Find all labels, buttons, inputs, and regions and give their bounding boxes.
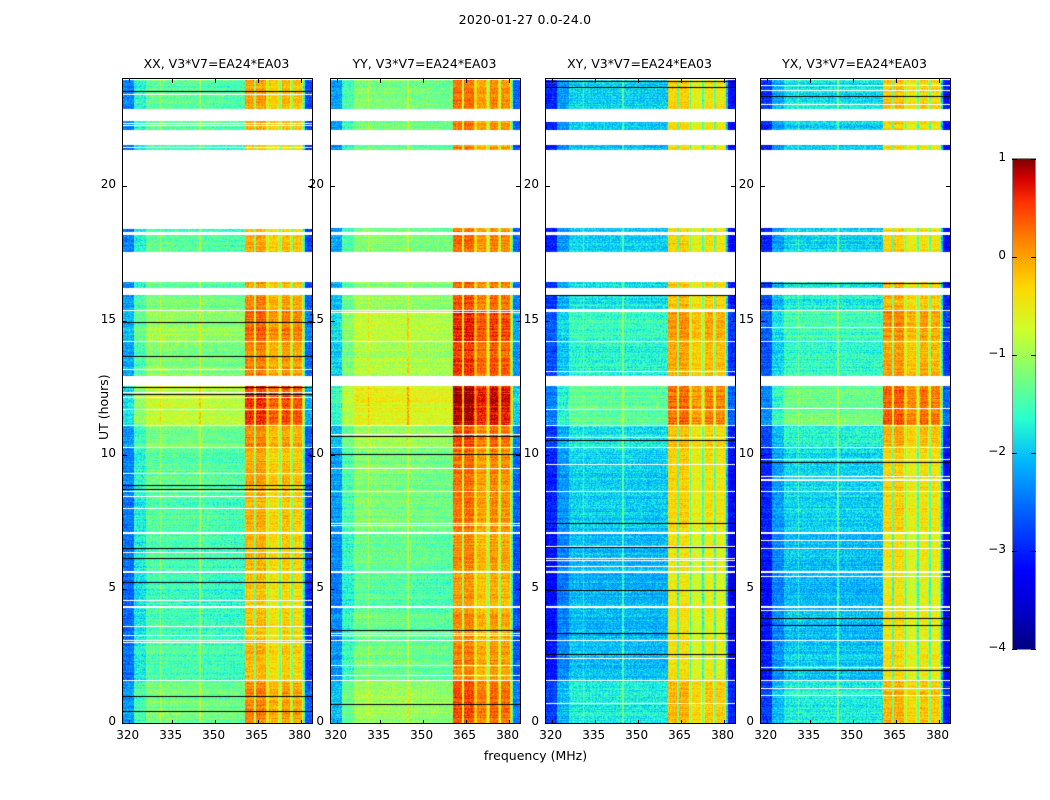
colorbar-tick-right — [1031, 159, 1036, 160]
x-tick-label: 335 — [789, 728, 829, 742]
colorbar[interactable] — [1012, 158, 1036, 650]
panel-title-xy: XY, V3*V7=EA24*EA03 — [515, 56, 764, 72]
x-tick-top — [258, 79, 259, 83]
colorbar-tick-right — [1031, 257, 1036, 258]
x-tick — [380, 720, 381, 724]
y-tick-label: 15 — [724, 312, 754, 326]
x-tick — [466, 720, 467, 724]
y-tick — [330, 186, 335, 187]
x-tick-top — [129, 79, 130, 83]
y-tick-right — [946, 321, 951, 322]
x-tick-label: 365 — [237, 728, 277, 742]
x-tick — [215, 720, 216, 724]
y-tick-label: 20 — [509, 177, 539, 191]
colorbar-tick-label: −3 — [972, 542, 1006, 556]
x-tick-label: 350 — [617, 728, 657, 742]
waterfall-panel-yx[interactable] — [760, 78, 951, 724]
x-tick-label: 380 — [488, 728, 528, 742]
x-tick-top — [939, 79, 940, 83]
y-tick — [760, 186, 765, 187]
x-tick — [638, 720, 639, 724]
x-tick-top — [896, 79, 897, 83]
x-tick-top — [215, 79, 216, 83]
colorbar-gradient — [1013, 159, 1035, 649]
y-tick — [122, 723, 127, 724]
x-tick — [595, 720, 596, 724]
x-tick-label: 320 — [108, 728, 148, 742]
y-tick — [545, 186, 550, 187]
x-tick-top — [595, 79, 596, 83]
colorbar-tick-right — [1031, 649, 1036, 650]
y-tick-label: 10 — [509, 446, 539, 460]
waterfall-image-yx — [761, 79, 950, 723]
x-tick — [337, 720, 338, 724]
y-tick — [122, 455, 127, 456]
y-tick-label: 15 — [294, 312, 324, 326]
figure-canvas: 2020-01-27 0.0-24.0 XX, V3*V7=EA24*EA033… — [0, 0, 1050, 800]
colorbar-tick — [1012, 551, 1017, 552]
x-tick-label: 365 — [445, 728, 485, 742]
y-tick — [330, 321, 335, 322]
colorbar-tick — [1012, 355, 1017, 356]
figure-suptitle: 2020-01-27 0.0-24.0 — [0, 12, 1050, 27]
y-tick-label: 10 — [724, 446, 754, 460]
y-tick — [545, 321, 550, 322]
x-tick-top — [301, 79, 302, 83]
y-tick-label: 0 — [294, 714, 324, 728]
waterfall-image-xx — [123, 79, 312, 723]
x-tick-label: 335 — [151, 728, 191, 742]
x-tick-label: 320 — [746, 728, 786, 742]
colorbar-tick — [1012, 649, 1017, 650]
y-tick — [545, 723, 550, 724]
x-tick-top — [853, 79, 854, 83]
x-tick-label: 380 — [918, 728, 958, 742]
y-tick — [122, 186, 127, 187]
x-tick — [681, 720, 682, 724]
x-tick — [258, 720, 259, 724]
y-tick — [545, 589, 550, 590]
x-tick — [172, 720, 173, 724]
x-tick — [552, 720, 553, 724]
y-tick — [122, 321, 127, 322]
x-tick — [853, 720, 854, 724]
y-tick-label: 0 — [86, 714, 116, 728]
y-tick — [122, 589, 127, 590]
y-tick-label: 5 — [294, 580, 324, 594]
x-tick-label: 335 — [574, 728, 614, 742]
y-axis-label: UT (hours) — [96, 374, 111, 440]
x-tick-top — [681, 79, 682, 83]
x-tick-top — [724, 79, 725, 83]
waterfall-panel-xy[interactable] — [545, 78, 736, 724]
colorbar-tick — [1012, 257, 1017, 258]
y-tick — [330, 455, 335, 456]
panel-title-yx: YX, V3*V7=EA24*EA03 — [730, 56, 979, 72]
x-tick-label: 365 — [660, 728, 700, 742]
panel-title-yy: YY, V3*V7=EA24*EA03 — [300, 56, 549, 72]
x-tick-top — [767, 79, 768, 83]
colorbar-tick-label: −4 — [972, 640, 1006, 654]
colorbar-tick-right — [1031, 551, 1036, 552]
colorbar-tick — [1012, 159, 1017, 160]
x-tick — [129, 720, 130, 724]
y-tick-label: 20 — [724, 177, 754, 191]
x-tick — [423, 720, 424, 724]
y-tick-label: 5 — [724, 580, 754, 594]
colorbar-tick-right — [1031, 453, 1036, 454]
waterfall-panel-yy[interactable] — [330, 78, 521, 724]
colorbar-tick — [1012, 453, 1017, 454]
y-tick-label: 20 — [294, 177, 324, 191]
x-tick-label: 380 — [280, 728, 320, 742]
y-tick-label: 20 — [86, 177, 116, 191]
colorbar-tick-label: 1 — [972, 150, 1006, 164]
x-tick-top — [466, 79, 467, 83]
y-tick-label: 10 — [86, 446, 116, 460]
y-tick — [760, 321, 765, 322]
x-tick-top — [638, 79, 639, 83]
x-tick — [939, 720, 940, 724]
waterfall-image-yy — [331, 79, 520, 723]
waterfall-image-xy — [546, 79, 735, 723]
x-tick-label: 320 — [316, 728, 356, 742]
y-tick-label: 5 — [509, 580, 539, 594]
y-tick-label: 15 — [86, 312, 116, 326]
x-tick-top — [552, 79, 553, 83]
colorbar-tick-label: −2 — [972, 444, 1006, 458]
y-tick-label: 15 — [509, 312, 539, 326]
x-tick — [896, 720, 897, 724]
colorbar-tick-label: 0 — [972, 248, 1006, 262]
y-tick-label: 0 — [724, 714, 754, 728]
y-tick — [330, 723, 335, 724]
y-tick — [760, 455, 765, 456]
x-tick-top — [423, 79, 424, 83]
y-tick-label: 10 — [294, 446, 324, 460]
waterfall-panel-xx[interactable] — [122, 78, 313, 724]
x-tick — [810, 720, 811, 724]
x-tick-label: 335 — [359, 728, 399, 742]
y-tick-right — [946, 589, 951, 590]
y-tick — [330, 589, 335, 590]
y-tick — [760, 723, 765, 724]
x-axis-label: frequency (MHz) — [122, 748, 949, 763]
x-tick-label: 350 — [402, 728, 442, 742]
y-tick-right — [946, 455, 951, 456]
colorbar-tick-right — [1031, 355, 1036, 356]
x-tick-top — [337, 79, 338, 83]
x-tick-label: 350 — [194, 728, 234, 742]
y-tick-label: 5 — [86, 580, 116, 594]
x-tick-label: 380 — [703, 728, 743, 742]
x-tick-top — [380, 79, 381, 83]
x-tick-label: 350 — [832, 728, 872, 742]
x-tick-label: 365 — [875, 728, 915, 742]
x-tick-top — [172, 79, 173, 83]
x-tick-label: 320 — [531, 728, 571, 742]
y-tick-right — [946, 186, 951, 187]
y-tick — [760, 589, 765, 590]
x-tick — [767, 720, 768, 724]
y-tick-label: 0 — [509, 714, 539, 728]
y-tick-right — [946, 723, 951, 724]
x-tick-top — [810, 79, 811, 83]
x-tick-top — [509, 79, 510, 83]
y-tick — [545, 455, 550, 456]
colorbar-tick-label: −1 — [972, 346, 1006, 360]
